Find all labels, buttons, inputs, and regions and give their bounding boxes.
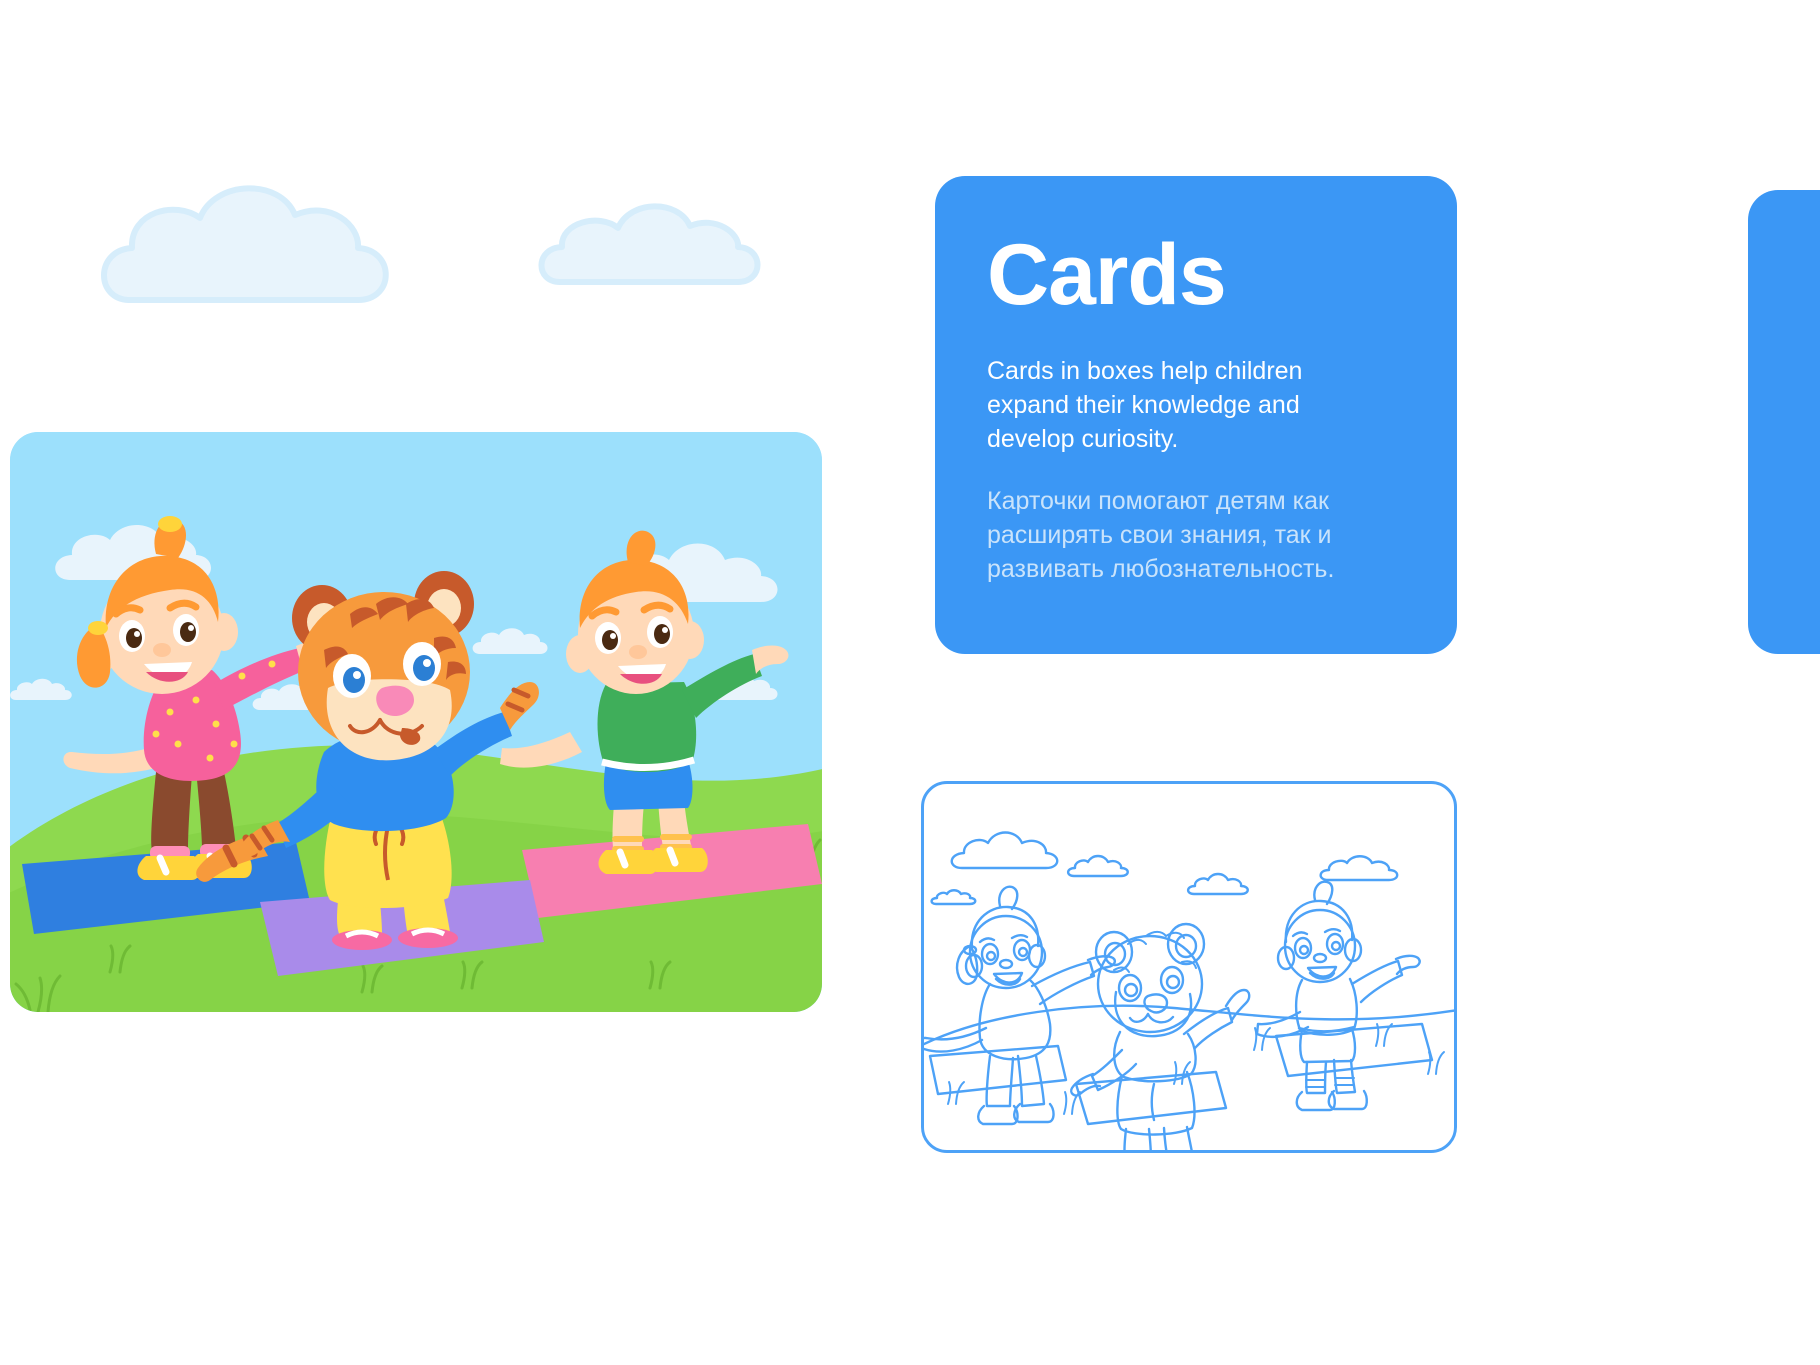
page-title: Cards — [987, 232, 1405, 318]
coloring-outline-illustration — [924, 784, 1454, 1150]
page-root: Cards Cards in boxes help children expan… — [0, 0, 1820, 1365]
scene-illustration — [10, 432, 822, 1012]
description-russian: Карточки помогают детям как расширять св… — [987, 484, 1397, 586]
cards-info-card[interactable]: Cards Cards in boxes help children expan… — [935, 176, 1457, 654]
cloud-small-icon — [541, 206, 757, 282]
description-english: Cards in boxes help children expand thei… — [987, 354, 1387, 456]
illustration-card — [10, 432, 822, 1012]
coloring-outline-card[interactable] — [921, 781, 1457, 1153]
cloud-large-icon — [104, 188, 386, 300]
background-clouds — [0, 0, 900, 400]
next-card-partial[interactable] — [1748, 190, 1820, 654]
